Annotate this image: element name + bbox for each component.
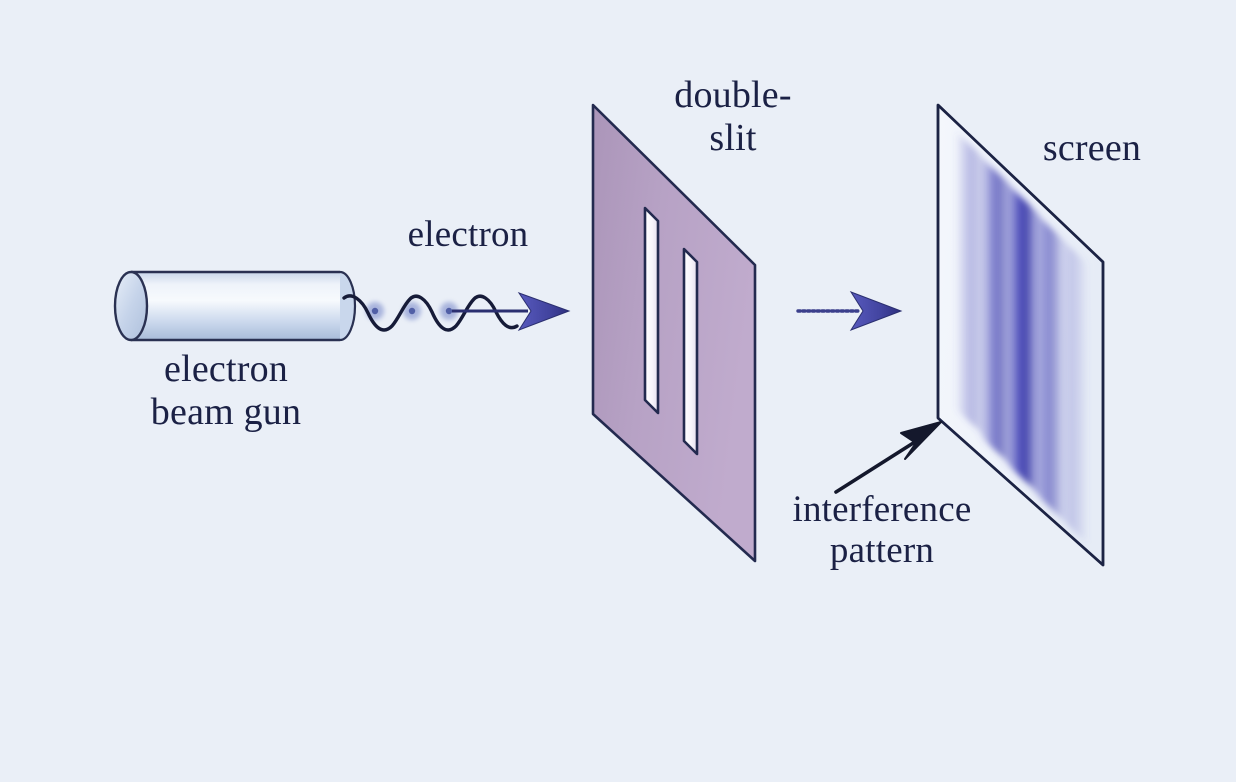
label-electron: electron (368, 214, 568, 255)
electron-dot-core (409, 308, 415, 314)
slit-left (645, 208, 658, 413)
propagation-dotted-arrow (798, 292, 901, 330)
label-screen: screen (1004, 127, 1180, 170)
electron-dot-core (446, 308, 452, 314)
barrier-plate (593, 105, 755, 561)
double-slit-barrier (593, 105, 755, 561)
gun-right-cap (340, 272, 355, 340)
slit-right (684, 249, 697, 454)
electron-wave-group (344, 296, 517, 330)
gun-body-fill (131, 272, 340, 340)
diagram-canvas: electron beam gun electron double- slit … (0, 0, 1236, 782)
pointer-arrow-head (901, 422, 941, 459)
electron-dot-core (372, 308, 378, 314)
fringe-5 (1057, 234, 1088, 545)
gun-left-cap (115, 272, 147, 340)
electron-beam-gun (115, 272, 355, 340)
label-interference-pattern: interference pattern (752, 489, 1012, 572)
pointer-arrow-shaft (836, 440, 918, 492)
interference-pointer-arrow (836, 422, 941, 492)
label-double-slit: double- slit (612, 74, 854, 159)
label-electron-beam-gun: electron beam gun (106, 348, 346, 433)
beam-direction-arrow (452, 293, 569, 330)
